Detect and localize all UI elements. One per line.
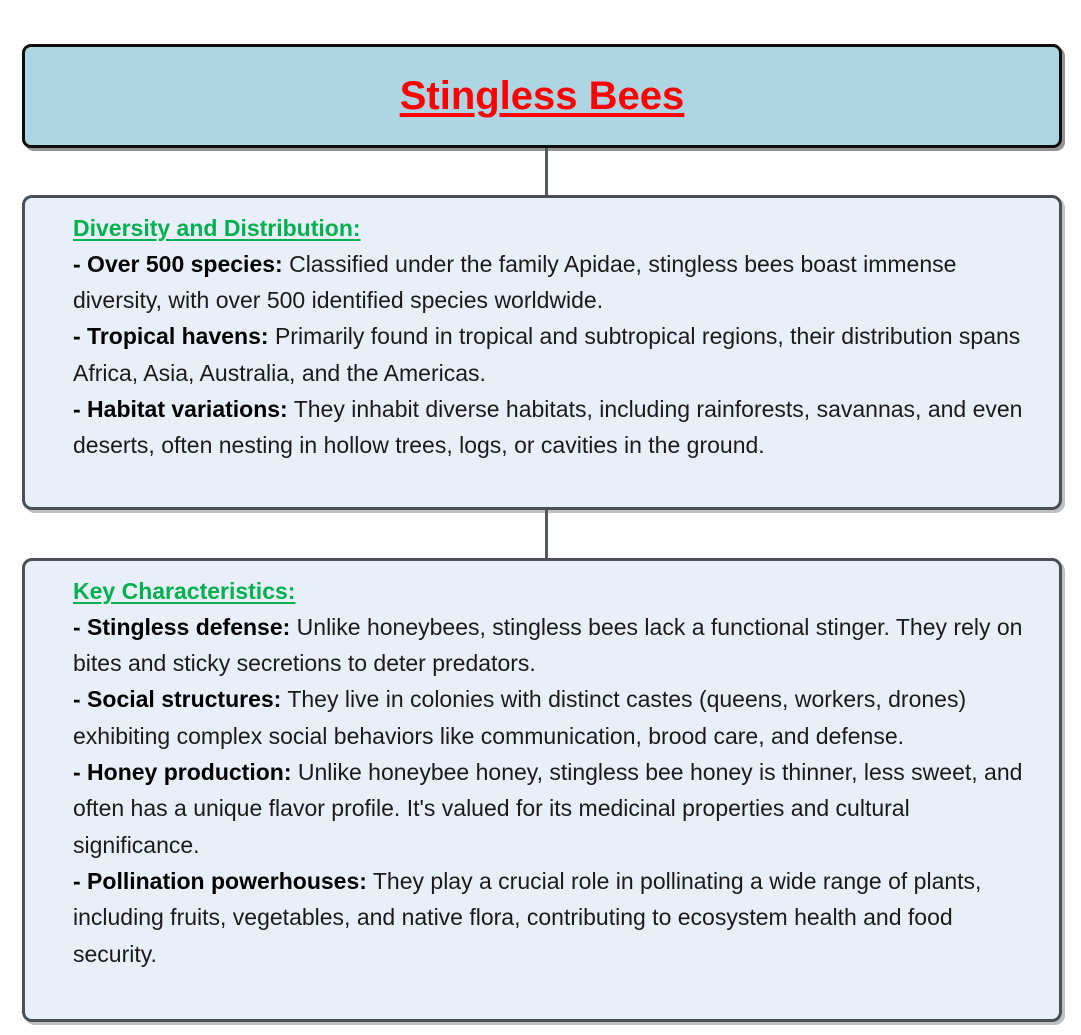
flowchart-canvas: Stingless Bees Diversity and Distributio… [0,0,1081,1035]
bullet-lead: - Over 500 species: [73,251,283,277]
bullet-lead: - Tropical havens: [73,323,269,349]
page-title: Stingless Bees [400,74,685,118]
bullet-lead: - Honey production: [73,759,291,785]
bullet-stingless-defense: - Stingless defense: Unlike honeybees, s… [73,609,1037,682]
connector-section-1-to-section-2 [545,510,548,558]
bullet-lead: - Stingless defense: [73,614,290,640]
bullet-pollination-powerhouses: - Pollination powerhouses: They play a c… [73,863,1037,972]
section-heading-diversity-and-distribution: Diversity and Distribution: [73,214,361,243]
section-node-key-characteristics: Key Characteristics: - Stingless defense… [22,558,1062,1022]
title-node: Stingless Bees [22,44,1062,148]
section-heading-key-characteristics: Key Characteristics: [73,577,295,606]
bullet-lead: - Social structures: [73,686,281,712]
bullet-honey-production: - Honey production: Unlike honeybee hone… [73,754,1037,863]
bullet-lead: - Pollination powerhouses: [73,868,367,894]
connector-title-to-section-1 [545,148,548,195]
section-node-diversity-and-distribution: Diversity and Distribution: - Over 500 s… [22,195,1062,510]
section-heading-row: Key Characteristics: [49,573,1037,609]
section-heading-row: Diversity and Distribution: [49,210,1037,246]
bullet-habitat-variations: - Habitat variations: They inhabit diver… [73,391,1037,464]
bullet-social-structures: - Social structures: They live in coloni… [73,681,1037,754]
bullet-tropical-havens: - Tropical havens: Primarily found in tr… [73,318,1037,391]
bullet-lead: - Habitat variations: [73,396,288,422]
bullet-over-500-species: - Over 500 species: Classified under the… [73,246,1037,319]
